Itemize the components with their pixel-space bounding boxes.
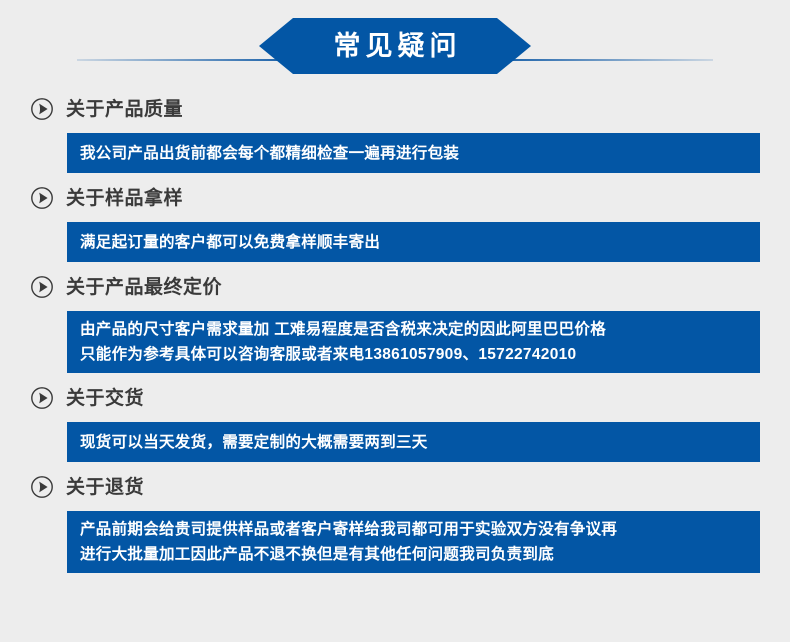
faq-answer-bar: 由产品的尺寸客户需求量加 工难易程度是否含税来决定的因此阿里巴巴价格只能作为参考… bbox=[67, 311, 760, 373]
faq-list: 关于产品质量我公司产品出货前都会每个都精细检查一遍再进行包装关于样品拿样满足起订… bbox=[0, 92, 790, 573]
play-circle-icon bbox=[30, 97, 54, 121]
faq-item: 关于产品最终定价由产品的尺寸客户需求量加 工难易程度是否含税来决定的因此阿里巴巴… bbox=[0, 270, 790, 373]
faq-item: 关于产品质量我公司产品出货前都会每个都精细检查一遍再进行包装 bbox=[0, 92, 790, 173]
faq-item: 关于样品拿样满足起订量的客户都可以免费拿样顺丰寄出 bbox=[0, 181, 790, 262]
faq-answer-line: 产品前期会给贵司提供样品或者客户寄样给我司都可用于实验双方没有争议再 bbox=[80, 517, 760, 542]
faq-item: 关于退货产品前期会给贵司提供样品或者客户寄样给我司都可用于实验双方没有争议再进行… bbox=[0, 470, 790, 573]
faq-header: 常见疑问 bbox=[0, 0, 790, 92]
faq-question-label: 关于产品最终定价 bbox=[66, 278, 222, 297]
faq-question-row[interactable]: 关于退货 bbox=[0, 470, 790, 504]
faq-answer-line: 我公司产品出货前都会每个都精细检查一遍再进行包装 bbox=[80, 141, 760, 166]
faq-answer-bar: 我公司产品出货前都会每个都精细检查一遍再进行包装 bbox=[67, 133, 760, 173]
faq-question-label: 关于退货 bbox=[66, 478, 144, 497]
faq-answer-line: 现货可以当天发货，需要定制的大概需要两到三天 bbox=[80, 430, 760, 455]
faq-answer-line: 只能作为参考具体可以咨询客服或者来电13861057909、1572274201… bbox=[80, 342, 760, 367]
faq-question-label: 关于产品质量 bbox=[66, 100, 183, 119]
faq-page: 常见疑问 关于产品质量我公司产品出货前都会每个都精细检查一遍再进行包装关于样品拿… bbox=[0, 0, 790, 642]
faq-question-row[interactable]: 关于产品质量 bbox=[0, 92, 790, 126]
faq-answer-bar: 现货可以当天发货，需要定制的大概需要两到三天 bbox=[67, 422, 760, 462]
play-circle-icon bbox=[30, 275, 54, 299]
faq-question-label: 关于样品拿样 bbox=[66, 189, 183, 208]
header-rule-left bbox=[77, 59, 293, 61]
faq-question-row[interactable]: 关于交货 bbox=[0, 381, 790, 415]
faq-question-row[interactable]: 关于样品拿样 bbox=[0, 181, 790, 215]
play-circle-icon bbox=[30, 475, 54, 499]
header-rule-right bbox=[497, 59, 713, 61]
faq-answer-bar: 满足起订量的客户都可以免费拿样顺丰寄出 bbox=[67, 222, 760, 262]
faq-answer-bar: 产品前期会给贵司提供样品或者客户寄样给我司都可用于实验双方没有争议再进行大批量加… bbox=[67, 511, 760, 573]
faq-answer-line: 进行大批量加工因此产品不退不换但是有其他任何问题我司负责到底 bbox=[80, 542, 760, 567]
faq-answer-line: 满足起订量的客户都可以免费拿样顺丰寄出 bbox=[80, 230, 760, 255]
play-circle-icon bbox=[30, 386, 54, 410]
faq-question-label: 关于交货 bbox=[66, 389, 144, 408]
faq-question-row[interactable]: 关于产品最终定价 bbox=[0, 270, 790, 304]
page-title: 常见疑问 bbox=[329, 33, 462, 60]
faq-answer-line: 由产品的尺寸客户需求量加 工难易程度是否含税来决定的因此阿里巴巴价格 bbox=[80, 317, 760, 342]
faq-title-banner: 常见疑问 bbox=[259, 18, 531, 74]
play-circle-icon bbox=[30, 186, 54, 210]
faq-item: 关于交货现货可以当天发货，需要定制的大概需要两到三天 bbox=[0, 381, 790, 462]
